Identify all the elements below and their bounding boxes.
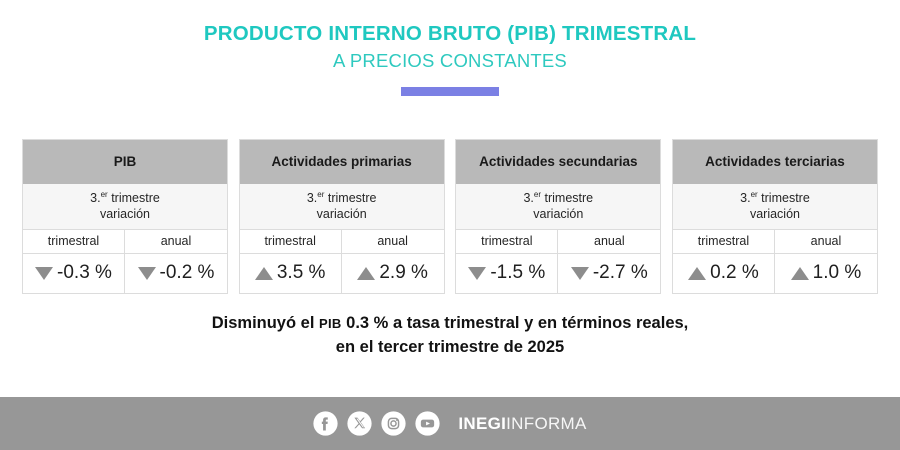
card-title: Actividades secundarias bbox=[456, 140, 660, 184]
card-period-suffix: trimestre bbox=[324, 191, 376, 205]
column-header-quarterly: trimestral bbox=[673, 230, 775, 253]
footer-bar: INEGIINFORMA bbox=[0, 397, 900, 450]
caption-part1: Disminuyó el bbox=[212, 314, 319, 332]
card-period-superscript: er bbox=[751, 190, 758, 199]
triangle-up-icon bbox=[255, 267, 273, 280]
summary-caption: Disminuyó el PIB 0.3 % a tasa trimestral… bbox=[0, 312, 900, 360]
card-period: 3.er trimestre variación bbox=[456, 184, 660, 230]
card-period-line2: variación bbox=[533, 207, 583, 221]
card-period-suffix: trimestre bbox=[108, 191, 160, 205]
card-column-headers: trimestral anual bbox=[673, 230, 877, 254]
card-title: Actividades primarias bbox=[240, 140, 444, 184]
column-header-annual: anual bbox=[125, 230, 227, 253]
triangle-down-icon bbox=[571, 267, 589, 280]
triangle-up-icon bbox=[791, 267, 809, 280]
page-title: PRODUCTO INTERNO BRUTO (PIB) TRIMESTRAL bbox=[0, 22, 900, 46]
card-title: Actividades terciarias bbox=[673, 140, 877, 184]
value-quarterly: 3.5 % bbox=[277, 262, 326, 284]
card-period-line2: variación bbox=[317, 207, 367, 221]
value-cell-quarterly: 0.2 % bbox=[673, 254, 775, 293]
indicator-cards: PIB 3.er trimestre variación trimestral … bbox=[22, 139, 878, 294]
card-period-prefix: 3. bbox=[523, 191, 533, 205]
value-quarterly: 0.2 % bbox=[710, 262, 759, 284]
page-subtitle: A PRECIOS CONSTANTES bbox=[0, 49, 900, 73]
card-column-headers: trimestral anual bbox=[23, 230, 227, 254]
value-quarterly: -0.3 % bbox=[57, 262, 112, 284]
column-header-annual: anual bbox=[342, 230, 444, 253]
card-column-headers: trimestral anual bbox=[456, 230, 660, 254]
card-period: 3.er trimestre variación bbox=[240, 184, 444, 230]
card-column-headers: trimestral anual bbox=[240, 230, 444, 254]
caption-line2: en el tercer trimestre de 2025 bbox=[336, 338, 564, 356]
value-cell-annual: 1.0 % bbox=[775, 254, 877, 293]
caption-acronym: PIB bbox=[319, 316, 342, 331]
triangle-up-icon bbox=[357, 267, 375, 280]
brand-label: INEGIINFORMA bbox=[458, 414, 586, 434]
value-cell-quarterly: -1.5 % bbox=[456, 254, 558, 293]
value-annual: 2.9 % bbox=[379, 262, 428, 284]
value-quarterly: -1.5 % bbox=[490, 262, 545, 284]
card-period-line2: variación bbox=[100, 207, 150, 221]
x-twitter-icon[interactable] bbox=[347, 411, 372, 436]
column-header-quarterly: trimestral bbox=[456, 230, 558, 253]
card-period-superscript: er bbox=[101, 190, 108, 199]
value-annual: 1.0 % bbox=[813, 262, 862, 284]
card-period-prefix: 3. bbox=[90, 191, 100, 205]
column-header-quarterly: trimestral bbox=[23, 230, 125, 253]
card-period-line2: variación bbox=[750, 207, 800, 221]
triangle-up-icon bbox=[688, 267, 706, 280]
brand-inegi: INEGI bbox=[458, 414, 506, 433]
column-header-quarterly: trimestral bbox=[240, 230, 342, 253]
card-values: 0.2 % 1.0 % bbox=[673, 254, 877, 293]
value-annual: -2.7 % bbox=[593, 262, 648, 284]
card-period-superscript: er bbox=[534, 190, 541, 199]
divider-bar bbox=[401, 87, 499, 96]
card-period-suffix: trimestre bbox=[758, 191, 810, 205]
card-period: 3.er trimestre variación bbox=[23, 184, 227, 230]
value-cell-annual: -2.7 % bbox=[558, 254, 660, 293]
value-cell-annual: -0.2 % bbox=[125, 254, 227, 293]
card-period-prefix: 3. bbox=[307, 191, 317, 205]
card-values: -0.3 % -0.2 % bbox=[23, 254, 227, 293]
indicator-card: PIB 3.er trimestre variación trimestral … bbox=[22, 139, 228, 294]
indicator-card: Actividades terciarias 3.er trimestre va… bbox=[672, 139, 878, 294]
triangle-down-icon bbox=[468, 267, 486, 280]
column-header-annual: anual bbox=[558, 230, 660, 253]
card-values: -1.5 % -2.7 % bbox=[456, 254, 660, 293]
value-annual: -0.2 % bbox=[160, 262, 215, 284]
indicator-card: Actividades primarias 3.er trimestre var… bbox=[239, 139, 445, 294]
triangle-down-icon bbox=[35, 267, 53, 280]
card-period-prefix: 3. bbox=[740, 191, 750, 205]
card-values: 3.5 % 2.9 % bbox=[240, 254, 444, 293]
card-period-suffix: trimestre bbox=[541, 191, 593, 205]
header: PRODUCTO INTERNO BRUTO (PIB) TRIMESTRAL … bbox=[0, 0, 900, 96]
indicator-card: Actividades secundarias 3.er trimestre v… bbox=[455, 139, 661, 294]
youtube-icon[interactable] bbox=[415, 411, 440, 436]
value-cell-quarterly: -0.3 % bbox=[23, 254, 125, 293]
column-header-annual: anual bbox=[775, 230, 877, 253]
facebook-icon[interactable] bbox=[313, 411, 338, 436]
value-cell-quarterly: 3.5 % bbox=[240, 254, 342, 293]
instagram-icon[interactable] bbox=[381, 411, 406, 436]
caption-part2: 0.3 % a tasa trimestral y en términos re… bbox=[342, 314, 689, 332]
brand-informa: INFORMA bbox=[506, 414, 586, 433]
card-period: 3.er trimestre variación bbox=[673, 184, 877, 230]
card-title: PIB bbox=[23, 140, 227, 184]
value-cell-annual: 2.9 % bbox=[342, 254, 444, 293]
triangle-down-icon bbox=[138, 267, 156, 280]
